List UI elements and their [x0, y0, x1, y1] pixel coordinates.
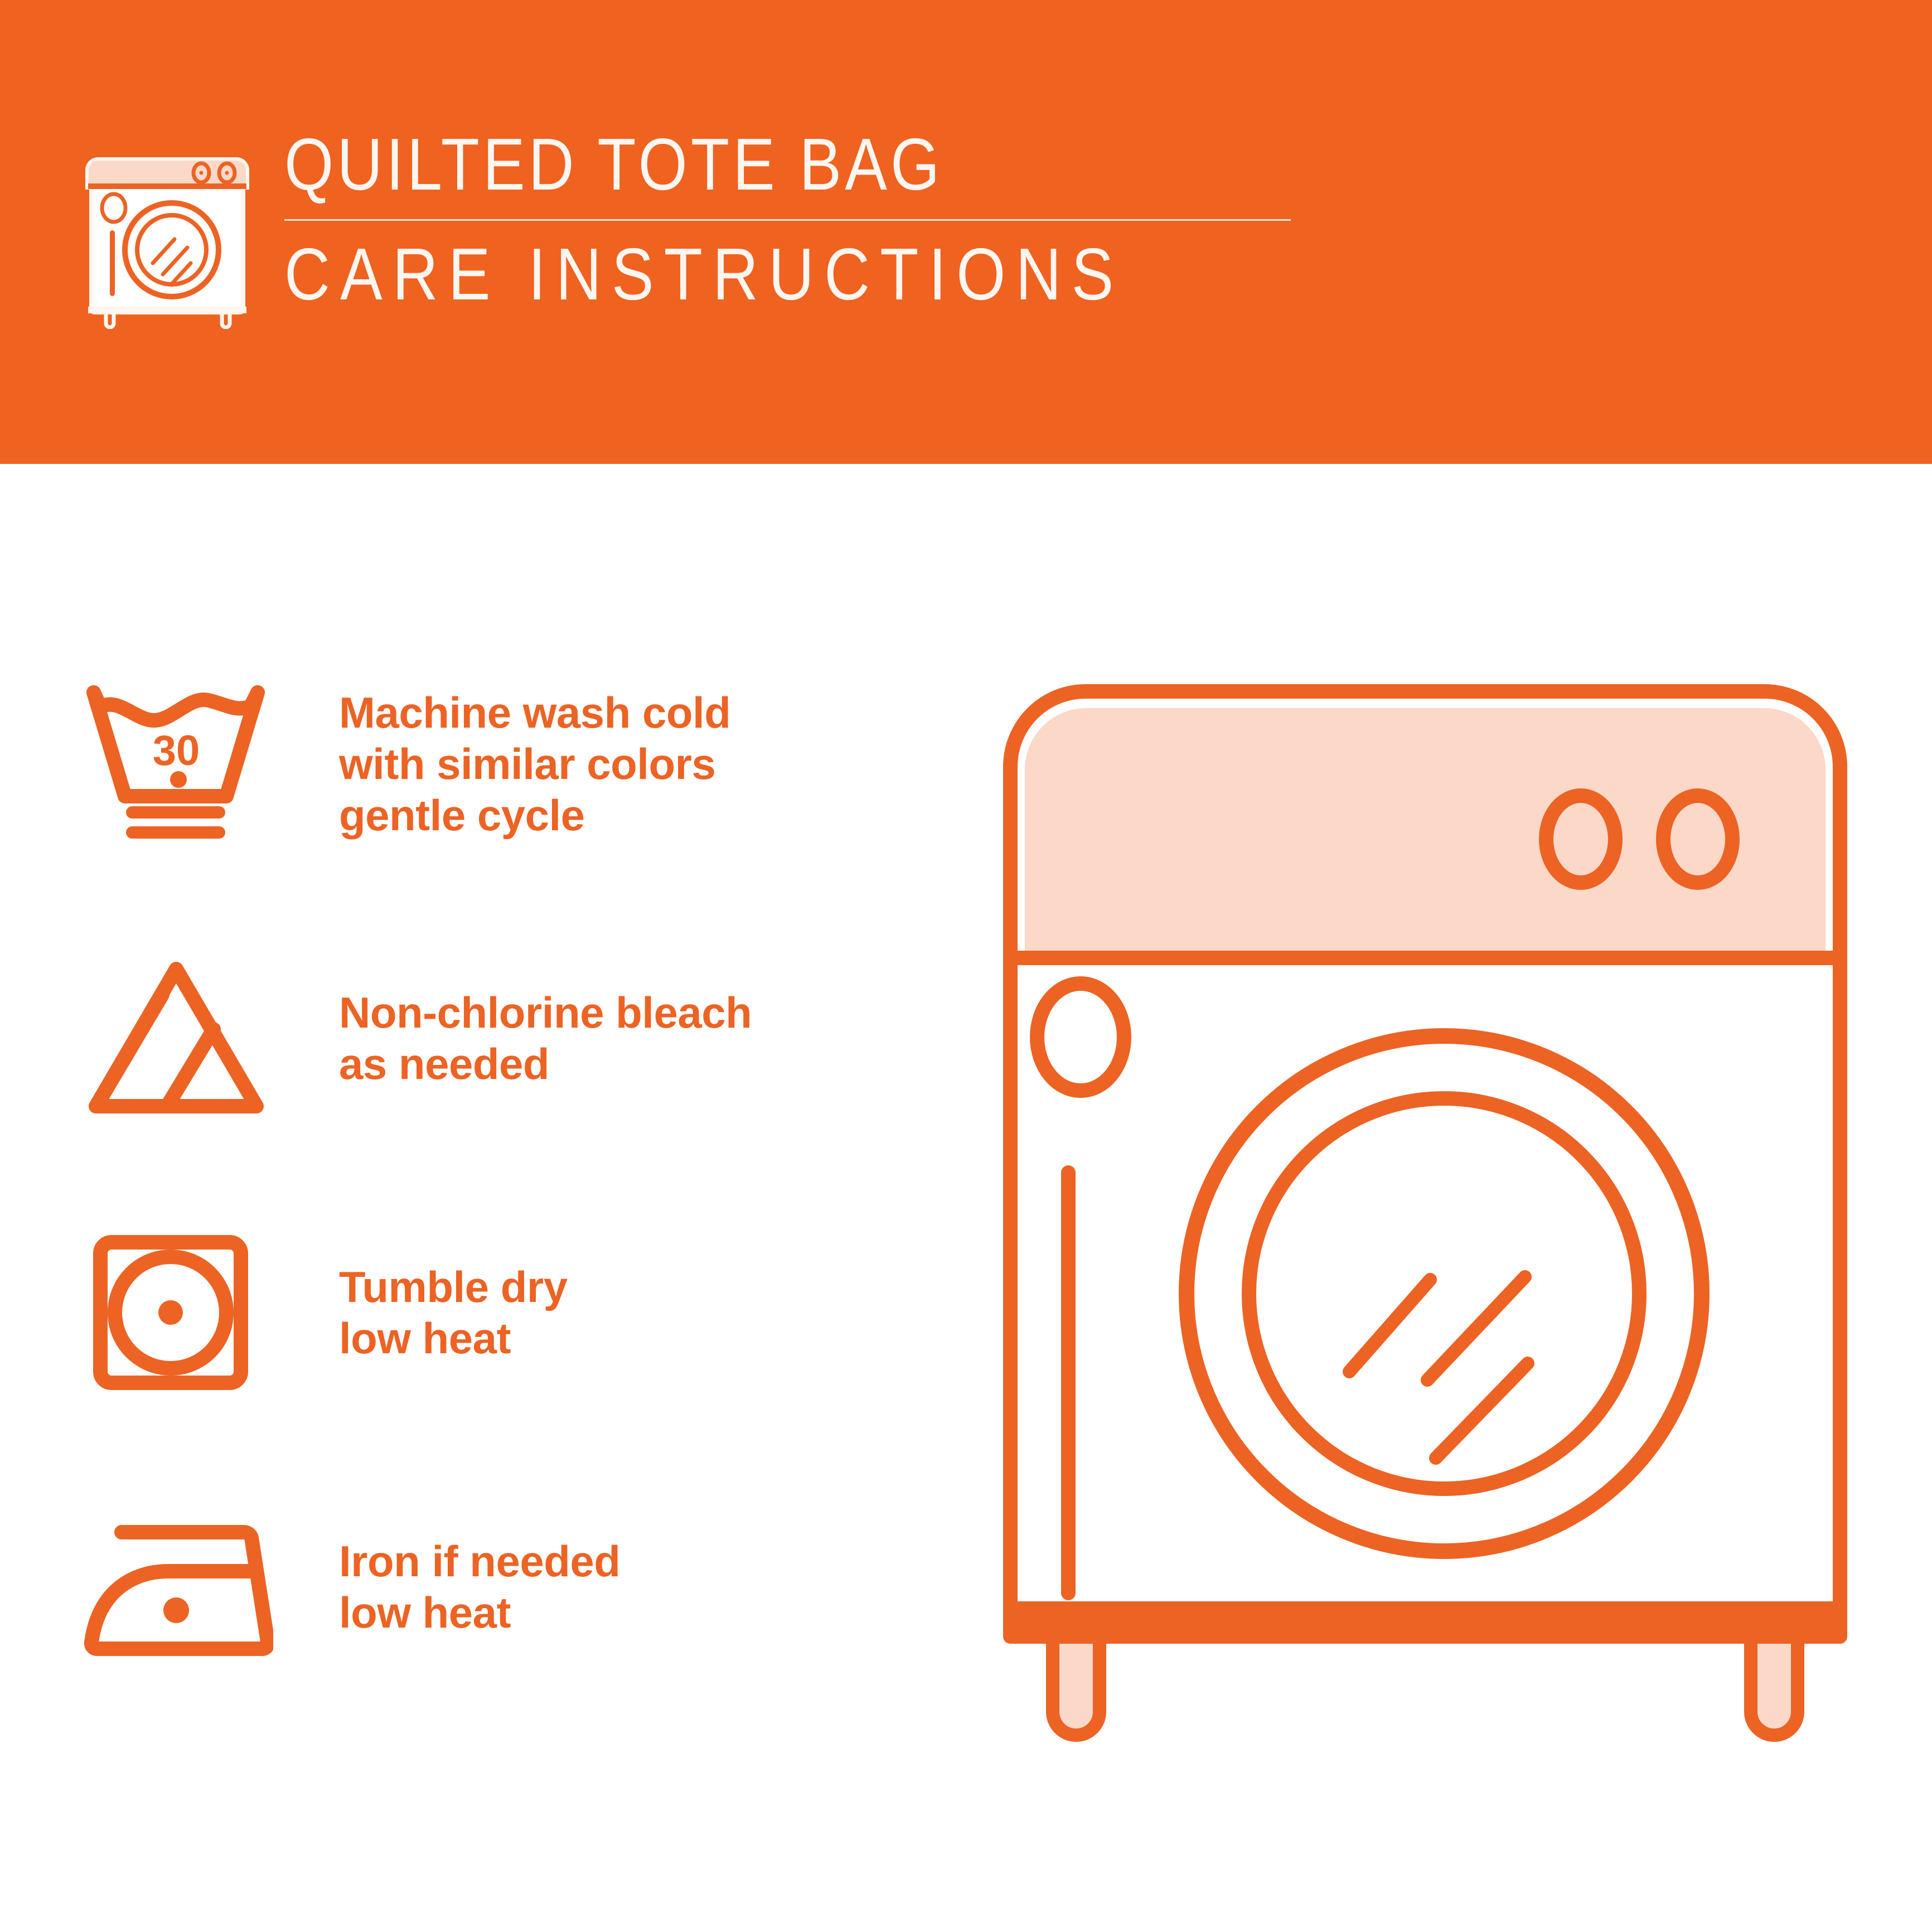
care-label: Non-chlorine bleach as needed — [339, 987, 752, 1090]
care-symbol-slot — [84, 1503, 296, 1670]
care-row: Non-chlorine bleach as needed — [84, 932, 920, 1144]
care-symbol-slot — [84, 1229, 296, 1396]
washing-machine-icon — [84, 137, 251, 329]
title-block: QUILTED TOTE BAG CARE INSTRUCTIONS — [284, 125, 1291, 311]
care-label: Machine wash cold with similar colors ge… — [339, 687, 730, 841]
header-content: QUILTED TOTE BAG CARE INSTRUCTIONS — [84, 125, 1291, 329]
care-row: Tumble dry low heat — [84, 1207, 920, 1418]
care-label: Tumble dry low heat — [339, 1261, 568, 1364]
title-divider — [284, 219, 1291, 221]
leg-left — [1053, 1628, 1100, 1735]
page-title: QUILTED TOTE BAG — [284, 128, 1150, 201]
washing-machine-graphic — [959, 624, 1918, 1907]
care-row: Iron if needed low heat — [84, 1481, 920, 1693]
iron-low-heat-symbol — [84, 1503, 273, 1670]
wash-temperature-value: 30 — [153, 727, 200, 774]
care-label: Iron if needed low heat — [339, 1536, 620, 1638]
door-handle — [1061, 1165, 1076, 1600]
tumble-dry-low-heat-symbol — [84, 1229, 273, 1396]
wash-basin-30-gentle-symbol: 30 — [84, 680, 273, 848]
non-chlorine-bleach-triangle-symbol — [84, 955, 273, 1122]
page-subtitle: CARE INSTRUCTIONS — [284, 238, 1150, 311]
panel-divider — [1010, 951, 1840, 965]
header-banner: QUILTED TOTE BAG CARE INSTRUCTIONS — [0, 0, 1932, 464]
machine-base-bar — [1010, 1601, 1840, 1636]
care-row: 30 Machine wash cold with similar colors… — [84, 658, 920, 870]
leg-right — [1751, 1628, 1798, 1735]
care-symbol-slot — [84, 955, 296, 1122]
large-washing-machine-illustration — [959, 624, 1918, 1907]
control-knob-right — [1663, 796, 1732, 883]
care-symbol-slot: 30 — [84, 680, 296, 848]
control-knob-left — [1546, 796, 1615, 883]
care-instruction-list: 30 Machine wash cold with similar colors… — [84, 658, 920, 1693]
